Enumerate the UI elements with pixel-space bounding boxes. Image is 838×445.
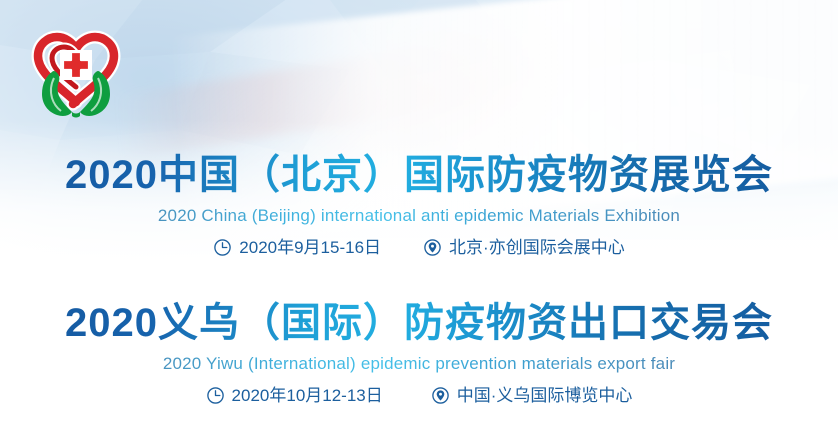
event-date-text-beijing: 2020年9月15-16日 [239, 239, 381, 256]
heart-cross-hands-logo [26, 24, 126, 124]
event-block-beijing: 2020中国（北京）国际防疫物资展览会 2020 China (Beijing)… [0, 152, 838, 257]
event-title-cn-beijing: 2020中国（北京）国际防疫物资展览会 [0, 152, 838, 198]
event-venue-text-beijing: 北京·亦创国际会展中心 [449, 239, 625, 256]
clock-icon [206, 386, 225, 405]
location-pin-icon [431, 386, 450, 405]
event-title-en-yiwu: 2020 Yiwu (International) epidemic preve… [0, 354, 838, 374]
event-meta-yiwu: 2020年10月12-13日 中国·义乌国际博览中心 [0, 386, 838, 405]
expo-banner: 2020中国（北京）国际防疫物资展览会 2020 China (Beijing)… [0, 0, 838, 445]
event-venue-beijing: 北京·亦创国际会展中心 [423, 238, 625, 257]
location-pin-icon [423, 238, 442, 257]
clock-icon [213, 238, 232, 257]
event-block-yiwu: 2020义乌（国际）防疫物资出口交易会 2020 Yiwu (Internati… [0, 300, 838, 405]
event-date-yiwu: 2020年10月12-13日 [206, 386, 383, 405]
event-venue-yiwu: 中国·义乌国际博览中心 [431, 386, 633, 405]
event-title-en-beijing: 2020 China (Beijing) international anti … [0, 206, 838, 226]
event-title-cn-yiwu: 2020义乌（国际）防疫物资出口交易会 [0, 300, 838, 346]
event-venue-text-yiwu: 中国·义乌国际博览中心 [457, 387, 633, 404]
event-date-text-yiwu: 2020年10月12-13日 [232, 387, 383, 404]
event-date-beijing: 2020年9月15-16日 [213, 238, 381, 257]
event-meta-beijing: 2020年9月15-16日 北京·亦创国际会展中心 [0, 238, 838, 257]
